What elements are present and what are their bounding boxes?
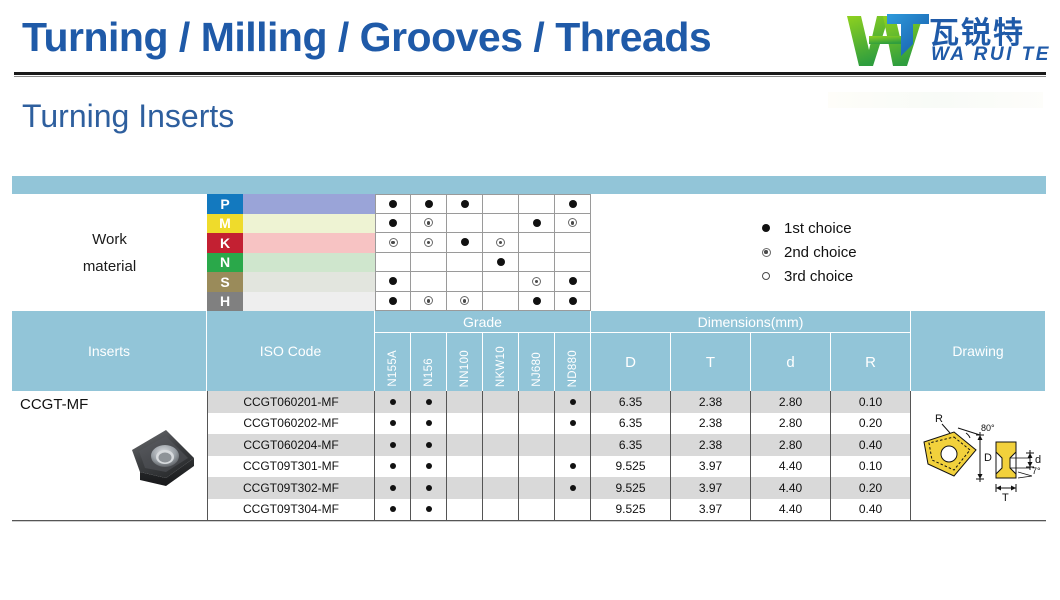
cell-dim-D: 9.525 (591, 456, 671, 478)
cell-dim-T: 3.97 (671, 456, 751, 478)
table-bottom-rule-light (12, 521, 1046, 522)
choice-mark-first (425, 200, 433, 208)
work-material-swatch-m (243, 214, 375, 234)
cell-grade (519, 434, 555, 456)
cell-grade (555, 391, 591, 413)
cell-grade (447, 499, 483, 521)
work-material-label-line2: material (83, 253, 136, 280)
choice-mark-first (497, 258, 505, 266)
cell-dim-D: 6.35 (591, 413, 671, 435)
cell-dim-T: 3.97 (671, 499, 751, 521)
company-logo: 瓦锐特 WA RUI TE (843, 8, 1048, 70)
drawing-label-t: T (1002, 492, 1009, 504)
table-header-row: Inserts ISO Code Grade N155AN156NN100NKW… (12, 311, 1046, 391)
cell-grade (447, 434, 483, 456)
cell-grade (483, 434, 519, 456)
cell-dimensions: 9.5253.974.400.20 (591, 477, 911, 499)
th-grade-group: Grade N155AN156NN100NKW10NJ680ND880 (375, 311, 591, 391)
cell-grade (555, 499, 591, 521)
work-material-swatch-s (243, 272, 375, 292)
work-material-row-n: N (207, 253, 591, 273)
cell-grade (519, 391, 555, 413)
cell-iso-code: CCGT060202-MF (207, 413, 375, 435)
cell-grade (375, 456, 411, 478)
work-material-cell (375, 272, 411, 292)
cell-grade (411, 456, 447, 478)
cell-grade (447, 477, 483, 499)
choice-mark-first (533, 219, 541, 227)
th-grade-nj680: NJ680 (519, 333, 555, 391)
th-grade-label-text: NN100 (459, 350, 471, 387)
cell-grade (411, 391, 447, 413)
cell-grade (519, 499, 555, 521)
choice-mark-first (389, 200, 397, 208)
cell-dimensions: 9.5253.974.400.10 (591, 456, 911, 478)
work-material-cell (447, 233, 483, 253)
cell-dim-D: 6.35 (591, 434, 671, 456)
drawing-label-d-big: D (984, 452, 992, 464)
choice-mark-first (389, 277, 397, 285)
choice-legend: 1st choice2nd choice3rd choice (756, 216, 976, 288)
cell-grades (375, 434, 591, 456)
cell-dim-d: 2.80 (751, 413, 831, 435)
work-material-row-p: P (207, 194, 591, 214)
work-material-grid: PMKNSH (207, 194, 591, 311)
th-grade-label-text: N156 (423, 358, 435, 387)
work-material-cell (483, 292, 519, 312)
th-grade-label-text: NKW10 (495, 346, 507, 387)
th-dim-T: T (671, 333, 751, 391)
choice-mark-first (762, 224, 770, 232)
th-grade-label-text: ND880 (567, 350, 579, 387)
work-material-letter-h: H (207, 292, 243, 312)
choice-mark-second (496, 238, 505, 247)
legend-item: 2nd choice (756, 240, 976, 264)
cell-grade (519, 477, 555, 499)
drawing-label-d-small: d (1035, 454, 1041, 466)
cell-grades (375, 413, 591, 435)
grade-dot (426, 485, 432, 491)
cell-dim-T: 2.38 (671, 413, 751, 435)
work-material-cell (375, 214, 411, 234)
th-grade-nn100: NN100 (447, 333, 483, 391)
cell-dim-R: 0.40 (831, 434, 911, 456)
work-material-cells (375, 214, 591, 234)
choice-mark-second (762, 248, 771, 257)
cell-dimensions: 6.352.382.800.10 (591, 391, 911, 413)
grade-dot (570, 485, 576, 491)
grade-dot (426, 506, 432, 512)
catalog-page: Turning / Milling / Grooves / Threads (0, 0, 1060, 600)
choice-mark-second (424, 238, 433, 247)
work-material-cell (375, 194, 411, 214)
insert-family-label: CCGT-MF (20, 396, 88, 413)
cell-grade (519, 456, 555, 478)
work-material-cell (411, 253, 447, 273)
cell-grade (483, 456, 519, 478)
header-title: Turning / Milling / Grooves / Threads (22, 14, 711, 61)
work-material-swatch-k (243, 233, 375, 253)
cell-iso-code: CCGT09T304-MF (207, 499, 375, 521)
cell-grades (375, 391, 591, 413)
work-material-cell (555, 194, 591, 214)
work-material-label-line1: Work (92, 226, 127, 253)
legend-label: 3rd choice (784, 268, 853, 285)
work-material-cell (555, 233, 591, 253)
legend-item: 3rd choice (756, 264, 976, 288)
choice-mark-second (460, 296, 469, 305)
work-material-cells (375, 272, 591, 292)
work-material-cell (375, 233, 411, 253)
work-material-cell (447, 194, 483, 214)
work-material-letter-n: N (207, 253, 243, 273)
grade-dot (390, 485, 396, 491)
cell-dim-R: 0.20 (831, 477, 911, 499)
insert-technical-drawing: R 80° D d T 7° (918, 402, 1046, 508)
cell-grade (483, 391, 519, 413)
work-material-cells (375, 233, 591, 253)
work-material-row-k: K (207, 233, 591, 253)
th-grade-columns: N155AN156NN100NKW10NJ680ND880 (375, 333, 591, 391)
table-row[interactable]: CCGT09T304-MF9.5253.974.400.40 (12, 499, 1046, 521)
grade-dot (426, 442, 432, 448)
work-material-cell (483, 214, 519, 234)
drawing-label-angle-side: 7° (1032, 466, 1041, 476)
cell-dim-R: 0.20 (831, 413, 911, 435)
cell-grade (411, 413, 447, 435)
work-material-row-m: M (207, 214, 591, 234)
work-material-row-s: S (207, 272, 591, 292)
watermark (828, 92, 1043, 108)
cell-grades (375, 456, 591, 478)
work-material-cell (483, 272, 519, 292)
work-material-swatch-h (243, 292, 375, 312)
work-material-cell (411, 233, 447, 253)
cell-dim-R: 0.10 (831, 456, 911, 478)
work-material-cell (555, 253, 591, 273)
choice-mark-first (461, 238, 469, 246)
work-material-cell (447, 292, 483, 312)
choice-mark-third (762, 272, 770, 280)
work-material-cells (375, 292, 591, 312)
cell-dim-d: 4.40 (751, 499, 831, 521)
drawing-label-r: R (935, 413, 943, 425)
th-grade-label-text: NJ680 (531, 352, 543, 387)
cell-iso-code: CCGT060204-MF (207, 434, 375, 456)
cell-grade (447, 456, 483, 478)
grade-dot (570, 399, 576, 405)
legend-item: 1st choice (756, 216, 976, 240)
work-material-swatch-p (243, 194, 375, 214)
logo-english-text: WA RUI TE (931, 44, 1051, 66)
cell-grade (447, 391, 483, 413)
choice-mark-first (569, 277, 577, 285)
th-grade-nd880: ND880 (555, 333, 591, 391)
insert-photo (128, 424, 204, 490)
cell-grade (555, 456, 591, 478)
work-material-cell (555, 214, 591, 234)
grade-dot (426, 463, 432, 469)
choice-mark-first (569, 200, 577, 208)
cell-grade (555, 434, 591, 456)
th-grade-n156: N156 (411, 333, 447, 391)
work-material-cell (411, 292, 447, 312)
th-drawing: Drawing (911, 311, 1046, 391)
work-material-letter-m: M (207, 214, 243, 234)
work-material-cell (447, 272, 483, 292)
th-iso-code: ISO Code (207, 311, 375, 391)
work-material-cell (375, 292, 411, 312)
table-row[interactable]: CCGT060201-MF6.352.382.800.10 (12, 391, 1046, 413)
cell-grade (375, 499, 411, 521)
cell-grade (555, 477, 591, 499)
choice-mark-first (533, 297, 541, 305)
th-dim-D: D (591, 333, 671, 391)
cell-dim-d: 2.80 (751, 391, 831, 413)
work-material-cell (519, 233, 555, 253)
th-grade-n155a: N155A (375, 333, 411, 391)
choice-mark-first (569, 297, 577, 305)
choice-mark-second (568, 218, 577, 227)
work-material-cell (411, 194, 447, 214)
cell-grade (483, 499, 519, 521)
work-material-letter-p: P (207, 194, 243, 214)
page-title: Turning Inserts (22, 98, 234, 135)
cell-grade (375, 413, 411, 435)
cell-dimensions: 6.352.382.800.40 (591, 434, 911, 456)
top-band (12, 176, 1046, 194)
choice-mark-first (389, 219, 397, 227)
work-material-cells (375, 253, 591, 273)
th-inserts: Inserts (12, 311, 207, 391)
work-material-cell (411, 272, 447, 292)
cell-dim-D: 9.525 (591, 477, 671, 499)
cell-dim-D: 9.525 (591, 499, 671, 521)
work-material-cell (519, 253, 555, 273)
drawing-label-angle-top: 80° (981, 423, 995, 433)
cell-iso-code: CCGT09T302-MF (207, 477, 375, 499)
th-dimensions-label: Dimensions(mm) (591, 311, 911, 333)
work-material-cell (519, 214, 555, 234)
work-material-letter-s: S (207, 272, 243, 292)
choice-mark-second (424, 296, 433, 305)
cell-dim-R: 0.10 (831, 391, 911, 413)
wrt-logo-mark-icon (843, 10, 931, 68)
grade-dot (390, 463, 396, 469)
work-material-cell (483, 253, 519, 273)
choice-mark-first (461, 200, 469, 208)
cell-grade (375, 434, 411, 456)
cell-grade (519, 413, 555, 435)
work-material-cell (375, 253, 411, 273)
th-dim-R: R (831, 333, 911, 391)
cell-dim-T: 3.97 (671, 477, 751, 499)
th-grade-label: Grade (375, 311, 591, 333)
cell-iso-code: CCGT09T301-MF (207, 456, 375, 478)
grade-dot (570, 463, 576, 469)
cell-dim-T: 2.38 (671, 391, 751, 413)
cell-dim-D: 6.35 (591, 391, 671, 413)
th-dim-d: d (751, 333, 831, 391)
work-material-cell (447, 253, 483, 273)
grade-dot (390, 399, 396, 405)
th-grade-label-text: N155A (387, 350, 399, 387)
work-material-label: Work material (12, 194, 207, 311)
cell-dim-R: 0.40 (831, 499, 911, 521)
cell-dim-T: 2.38 (671, 434, 751, 456)
legend-mark (756, 272, 776, 280)
header-divider (14, 72, 1046, 75)
work-material-cell (519, 194, 555, 214)
work-material-cell (555, 272, 591, 292)
cell-grades (375, 477, 591, 499)
cell-grade (447, 413, 483, 435)
cell-grade (375, 391, 411, 413)
choice-mark-second (424, 218, 433, 227)
th-grade-nkw10: NKW10 (483, 333, 519, 391)
grade-dot (390, 420, 396, 426)
grade-dot (390, 442, 396, 448)
grade-dot (570, 420, 576, 426)
choice-mark-second (532, 277, 541, 286)
cell-grade (411, 499, 447, 521)
cell-grade (483, 477, 519, 499)
cell-grade (375, 477, 411, 499)
legend-mark (756, 224, 776, 232)
legend-label: 1st choice (784, 220, 852, 237)
legend-mark (756, 248, 776, 257)
work-material-cell (519, 272, 555, 292)
work-material-cell (483, 194, 519, 214)
cell-grade (411, 477, 447, 499)
cell-dimensions: 6.352.382.800.20 (591, 413, 911, 435)
work-material-row-h: H (207, 292, 591, 312)
th-dimensions-group: Dimensions(mm) DTdR (591, 311, 911, 391)
cell-insert-image-area (12, 499, 207, 521)
cell-grade (483, 413, 519, 435)
cell-dim-d: 4.40 (751, 456, 831, 478)
cell-iso-code: CCGT060201-MF (207, 391, 375, 413)
work-material-cell (519, 292, 555, 312)
page-header: Turning / Milling / Grooves / Threads (0, 0, 1060, 78)
th-dimension-columns: DTdR (591, 333, 911, 391)
work-material-cell (483, 233, 519, 253)
work-material-cell (411, 214, 447, 234)
header-divider-thin (14, 76, 1046, 77)
cell-dimensions: 9.5253.974.400.40 (591, 499, 911, 521)
choice-mark-first (389, 297, 397, 305)
work-material-cells (375, 194, 591, 214)
grade-dot (426, 399, 432, 405)
choice-mark-second (389, 238, 398, 247)
cell-dim-d: 4.40 (751, 477, 831, 499)
grade-dot (390, 506, 396, 512)
work-material-letter-k: K (207, 233, 243, 253)
legend-label: 2nd choice (784, 244, 857, 261)
work-material-cell (447, 214, 483, 234)
cell-dim-d: 2.80 (751, 434, 831, 456)
work-material-swatch-n (243, 253, 375, 273)
cell-grades (375, 499, 591, 521)
cell-grade (411, 434, 447, 456)
work-material-cell (555, 292, 591, 312)
cell-grade (555, 413, 591, 435)
grade-dot (426, 420, 432, 426)
